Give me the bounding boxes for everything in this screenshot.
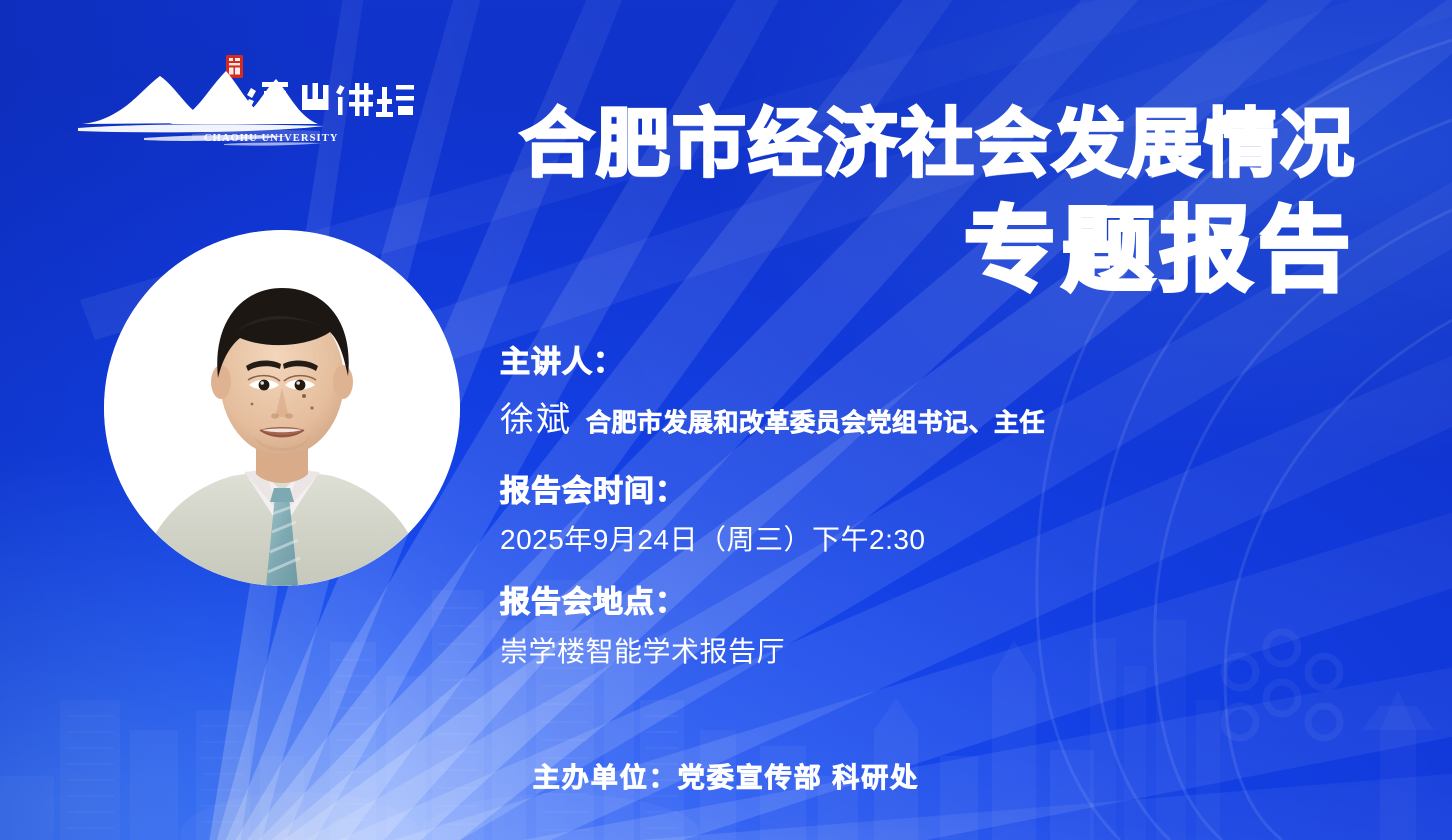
title-line-2: 专题报告 <box>396 205 1356 297</box>
organizer-text: 主办单位：党委宣传部 科研处 <box>533 756 920 795</box>
logo-english-text: CHAOHU UNIVERSITY <box>204 133 339 144</box>
event-poster: CHAOHU UNIVERSITY 合肥市经济社会发展情况 专题报告 <box>0 0 1452 840</box>
event-details: 主讲人： 徐斌 合肥市发展和改革委员会党组书记、主任 报告会时间： 2025年9… <box>500 344 1400 670</box>
speaker-label: 主讲人： <box>500 344 1400 382</box>
page-title: 合肥市经济社会发展情况 专题报告 <box>396 108 1356 297</box>
speaker-name: 徐斌 <box>500 392 572 441</box>
venue-value: 崇学楼智能学术报告厅 <box>500 634 1400 670</box>
title-line-1: 合肥市经济社会发展情况 <box>396 108 1356 181</box>
time-value: 2025年9月24日（周三）下午2:30 <box>500 522 1400 558</box>
speaker-portrait <box>104 230 460 586</box>
chaohu-university-logo: CHAOHU UNIVERSITY <box>74 52 414 147</box>
venue-label: 报告会地点： <box>500 584 1400 622</box>
speaker-title: 合肥市发展和改革委员会党组书记、主任 <box>586 403 1045 439</box>
speaker-row: 徐斌 合肥市发展和改革委员会党组书记、主任 <box>500 392 1400 441</box>
time-label: 报告会时间： <box>500 473 1400 511</box>
footer: 主办单位：党委宣传部 科研处 <box>0 756 1452 795</box>
